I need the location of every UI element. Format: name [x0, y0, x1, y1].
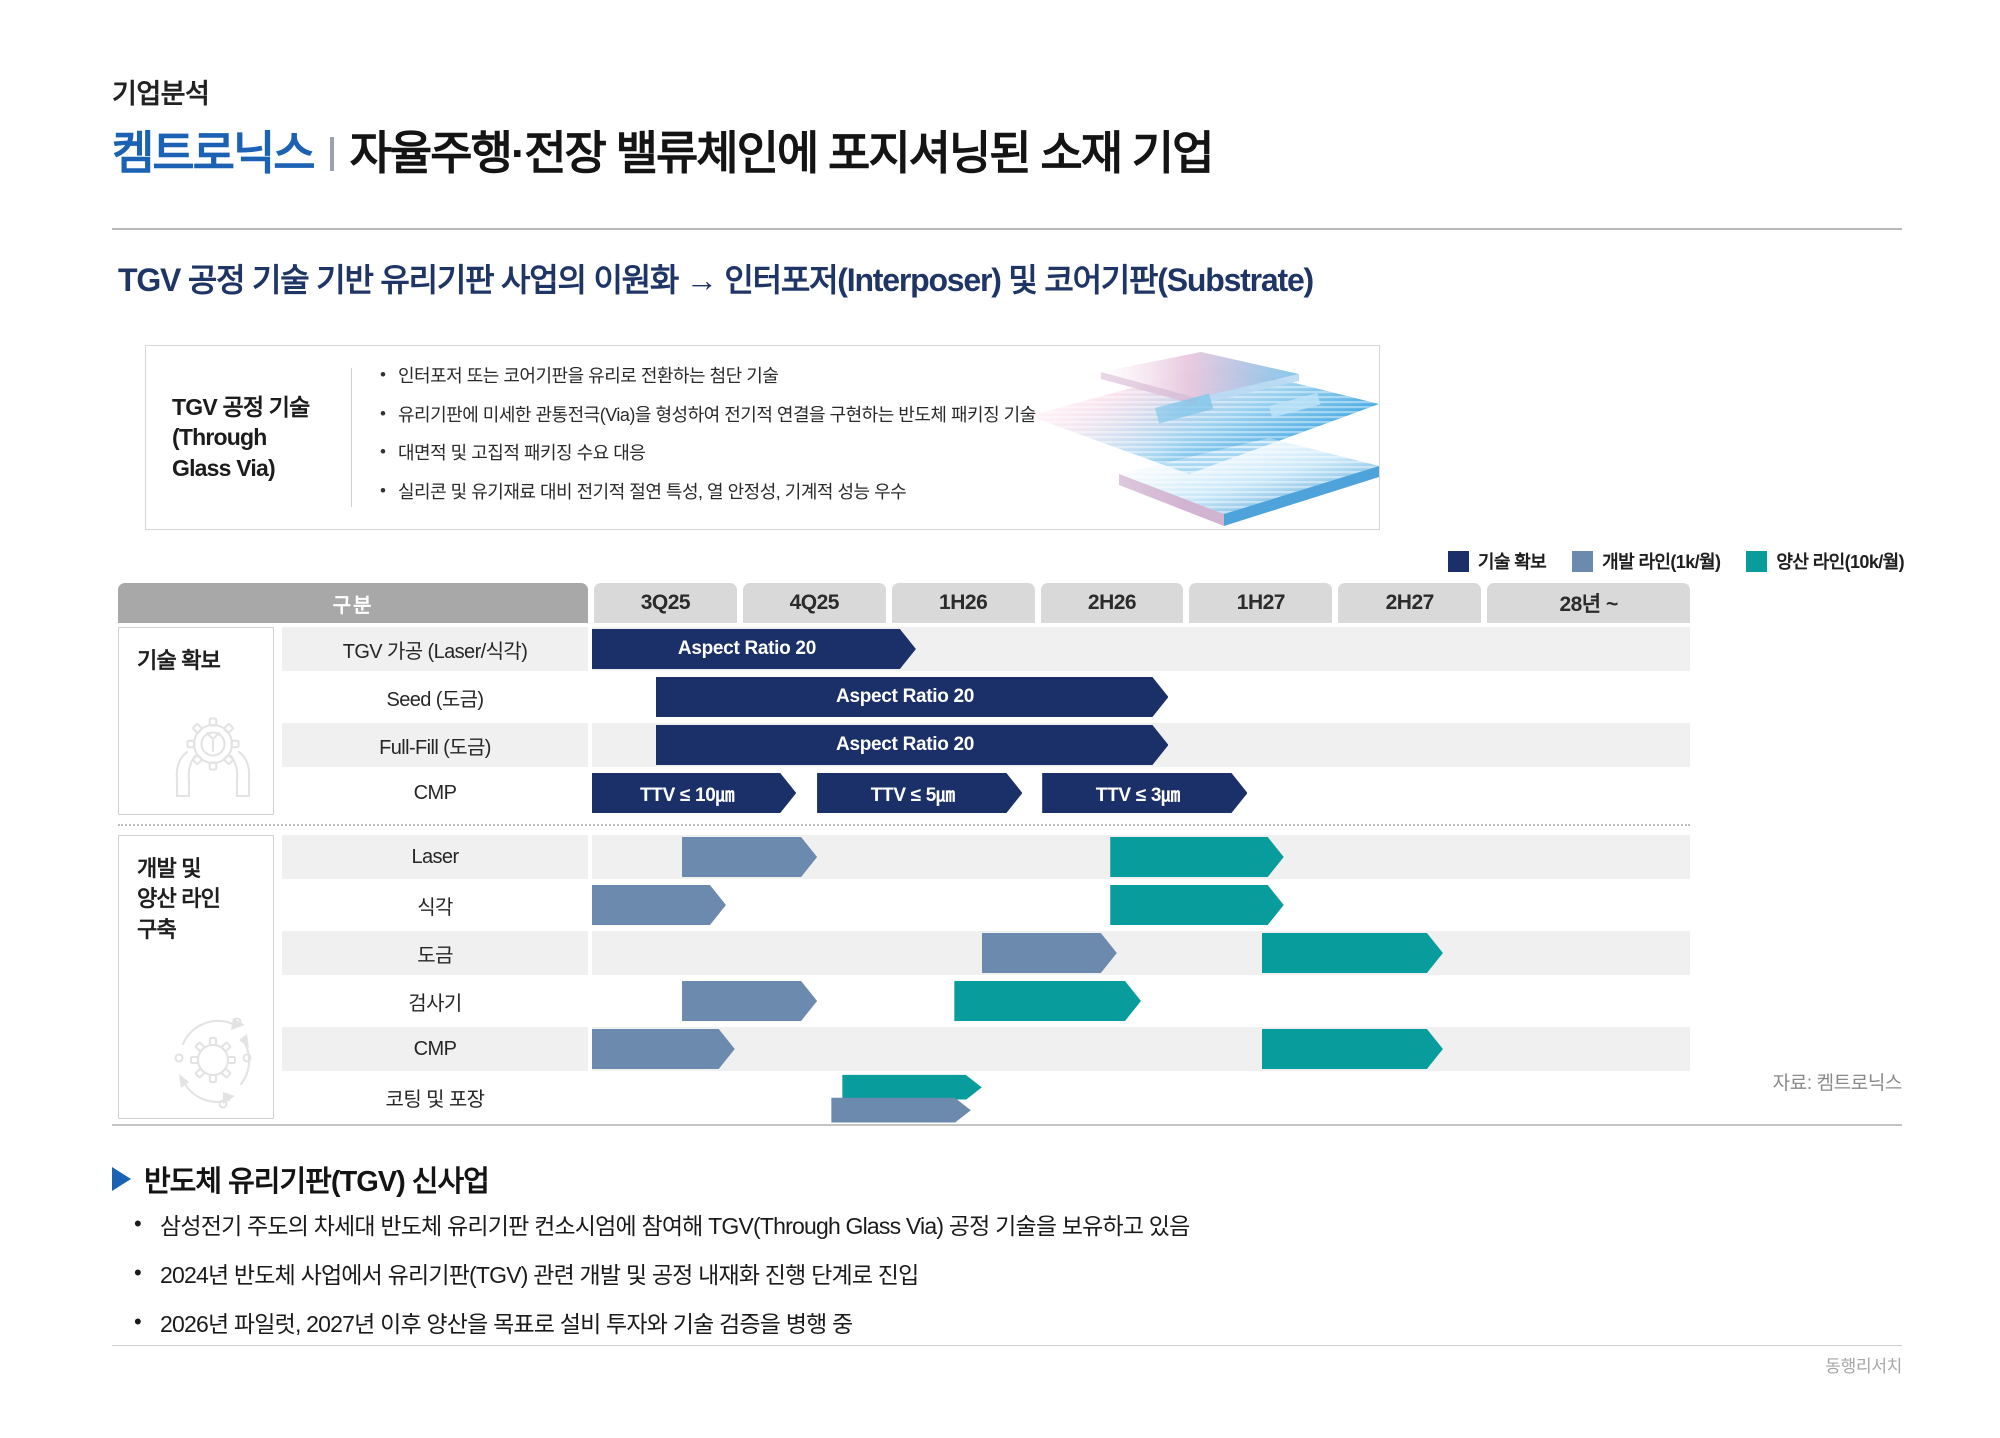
timeline-col-4q25: 4Q25 [743, 583, 886, 623]
list-item: 인터포저 또는 코어기판을 유리로 전환하는 첨단 기술 [380, 366, 1379, 388]
gantt-bar[interactable]: TTV ≤ 10㎛ [592, 773, 796, 813]
table-row: Seed (도금) Aspect Ratio 20 [282, 675, 1690, 719]
gantt-bar[interactable] [1110, 837, 1283, 877]
row-track: Aspect Ratio 20 [592, 627, 1690, 671]
source-attribution: 자료: 켐트로닉스 [1773, 1068, 1902, 1095]
legend-item-dev: 개발 라인(1k/월) [1572, 548, 1720, 574]
footer-brand: 동행리서치 [1825, 1352, 1902, 1377]
section-subtitle: TGV 공정 기술 기반 유리기판 사업의 이원화 → 인터포저(Interpo… [118, 255, 1313, 301]
roadmap-timeline: 구분 3Q25 4Q25 1H26 2H26 1H27 2H27 28년 ~ 기… [118, 583, 1690, 1119]
row-label: 코팅 및 포장 [282, 1075, 588, 1119]
legend-swatch-icon [1572, 551, 1593, 572]
header-rule [112, 228, 1902, 230]
gantt-bar[interactable]: TTV ≤ 5㎛ [817, 773, 1022, 813]
footer-rule [112, 1345, 1902, 1346]
table-row: CMP TTV ≤ 10㎛ TTV ≤ 5㎛ TTV ≤ 3㎛ [282, 771, 1690, 815]
report-page: 기업분석 켐트로닉스 자율주행·전장 밸류체인에 포지셔닝된 소재 기업 TGV… [0, 0, 2000, 1438]
gantt-bar[interactable] [842, 1075, 981, 1100]
timeline-group-line: 개발 및 양산 라인 구축 [118, 835, 1690, 1119]
row-label: 검사기 [282, 979, 588, 1023]
gantt-bar[interactable] [1262, 1029, 1443, 1069]
page-header: 기업분석 켐트로닉스 자율주행·전장 밸류체인에 포지셔닝된 소재 기업 [112, 72, 1212, 183]
bottom-bullet-list: 삼성전기 주도의 차세대 반도체 유리기판 컨소시엄에 참여해 TGV(Thro… [132, 1212, 1190, 1358]
timeline-col-3q25: 3Q25 [594, 583, 737, 623]
legend-label: 기술 확보 [1478, 548, 1546, 574]
list-item: 2026년 파일럿, 2027년 이후 양산을 목표로 설비 투자와 기술 검증… [132, 1310, 1190, 1339]
gantt-bar[interactable] [1262, 933, 1443, 973]
row-label: Seed (도금) [282, 675, 588, 719]
gantt-bar[interactable] [982, 933, 1117, 973]
row-label: CMP [282, 771, 588, 815]
tgv-box-label: TGV 공정 기술 (Through Glass Via) [146, 346, 351, 529]
table-row: 도금 [282, 931, 1690, 975]
group-label-line3: 구축 [137, 915, 220, 945]
timeline-col-1h27: 1H27 [1189, 583, 1332, 623]
tgv-label-line2: (Through [172, 422, 310, 452]
group-label: 개발 및 양산 라인 구축 [137, 854, 220, 945]
group-separator [118, 824, 1690, 826]
row-label: Full-Fill (도금) [282, 723, 588, 767]
tgv-technology-box: TGV 공정 기술 (Through Glass Via) 인터포저 또는 코어… [145, 345, 1380, 530]
gantt-bar[interactable] [682, 981, 817, 1021]
group-side-panel: 개발 및 양산 라인 구축 [118, 835, 274, 1119]
timeline-col-28y: 28년 ~ [1487, 583, 1690, 623]
table-row: Laser [282, 835, 1690, 879]
list-item: 유리기판에 미세한 관통전극(Via)을 형성하여 전기적 연결을 구현하는 반… [380, 405, 1379, 427]
row-track [592, 979, 1690, 1023]
bottom-title-text: 반도체 유리기판(TGV) 신사업 [144, 1158, 489, 1200]
gantt-bar[interactable] [592, 1029, 735, 1069]
timeline-body: 기술 확보 [118, 627, 1690, 1119]
table-row: 검사기 [282, 979, 1690, 1023]
legend-item-mass: 양산 라인(10k/월) [1746, 548, 1904, 574]
row-track: TTV ≤ 10㎛ TTV ≤ 5㎛ TTV ≤ 3㎛ [592, 771, 1690, 815]
bottom-rule [112, 1124, 1902, 1126]
group-side-panel: 기술 확보 [118, 627, 274, 815]
tgv-label-line1: TGV 공정 기술 [172, 392, 310, 422]
gear-in-hands-icon [161, 704, 265, 808]
page-title: 자율주행·전장 밸류체인에 포지셔닝된 소재 기업 [350, 117, 1213, 183]
legend-swatch-icon [1448, 551, 1469, 572]
gantt-bar[interactable]: Aspect Ratio 20 [656, 677, 1169, 717]
gantt-bar[interactable] [954, 981, 1141, 1021]
list-item: 대면적 및 고집적 패키징 수요 대응 [380, 443, 1379, 465]
group-label: 기술 확보 [137, 646, 220, 676]
header-kicker: 기업분석 [112, 72, 1212, 111]
timeline-col-2h26: 2H26 [1041, 583, 1184, 623]
row-label: Laser [282, 835, 588, 879]
row-track: Aspect Ratio 20 [592, 723, 1690, 767]
row-label: 도금 [282, 931, 588, 975]
legend-label: 개발 라인(1k/월) [1602, 548, 1720, 574]
triangle-bullet-icon [112, 1167, 131, 1191]
table-row: CMP [282, 1027, 1690, 1071]
company-name: 켐트로닉스 [112, 117, 314, 183]
gantt-bar[interactable]: Aspect Ratio 20 [592, 629, 916, 669]
row-track [592, 931, 1690, 975]
gantt-bar[interactable] [682, 837, 817, 877]
group-rows: TGV 가공 (Laser/식각) Aspect Ratio 20 Seed (… [282, 627, 1690, 815]
group-rows: Laser 식각 도금 [282, 835, 1690, 1119]
timeline-group-tech: 기술 확보 [118, 627, 1690, 815]
table-row: Full-Fill (도금) Aspect Ratio 20 [282, 723, 1690, 767]
legend-label: 양산 라인(10k/월) [1776, 548, 1904, 574]
table-row: 식각 [282, 883, 1690, 927]
gantt-bar[interactable]: Aspect Ratio 20 [656, 725, 1169, 765]
gantt-bar[interactable] [1110, 885, 1283, 925]
gear-cycle-icon [161, 1008, 265, 1112]
table-row: 코팅 및 포장 [282, 1075, 1690, 1119]
tgv-bullet-list: 인터포저 또는 코어기판을 유리로 전환하는 첨단 기술 유리기판에 미세한 관… [352, 346, 1379, 529]
row-track [592, 883, 1690, 927]
bottom-section-title: 반도체 유리기판(TGV) 신사업 [112, 1158, 489, 1200]
timeline-header-row: 구분 3Q25 4Q25 1H26 2H26 1H27 2H27 28년 ~ [118, 583, 1690, 623]
row-label: CMP [282, 1027, 588, 1071]
row-track [592, 1027, 1690, 1071]
timeline-header-gubun: 구분 [118, 583, 588, 623]
list-item: 삼성전기 주도의 차세대 반도체 유리기판 컨소시엄에 참여해 TGV(Thro… [132, 1212, 1190, 1241]
group-label-line2: 양산 라인 [137, 884, 220, 914]
row-track: Aspect Ratio 20 [592, 675, 1690, 719]
row-track [592, 835, 1690, 879]
header-separator [330, 137, 334, 171]
timeline-col-2h27: 2H27 [1338, 583, 1481, 623]
group-label-line1: 개발 및 [137, 854, 220, 884]
legend-item-tech: 기술 확보 [1448, 548, 1546, 574]
gantt-bar[interactable]: TTV ≤ 3㎛ [1042, 773, 1247, 813]
gantt-bar[interactable] [592, 885, 726, 925]
legend-swatch-icon [1746, 551, 1767, 572]
row-label: 식각 [282, 883, 588, 927]
chart-legend: 기술 확보 개발 라인(1k/월) 양산 라인(10k/월) [1448, 548, 1904, 574]
list-item: 2024년 반도체 사업에서 유리기판(TGV) 관련 개발 및 공정 내재화 … [132, 1261, 1190, 1290]
list-item: 실리콘 및 유기재료 대비 전기적 절연 특성, 열 안정성, 기계적 성능 우… [380, 482, 1379, 504]
gantt-bar[interactable] [831, 1098, 970, 1123]
table-row: TGV 가공 (Laser/식각) Aspect Ratio 20 [282, 627, 1690, 671]
row-track [592, 1075, 1690, 1119]
tgv-label-line3: Glass Via) [172, 453, 310, 483]
header-title-line: 켐트로닉스 자율주행·전장 밸류체인에 포지셔닝된 소재 기업 [112, 117, 1212, 183]
timeline-col-1h26: 1H26 [892, 583, 1035, 623]
row-label: TGV 가공 (Laser/식각) [282, 627, 588, 671]
